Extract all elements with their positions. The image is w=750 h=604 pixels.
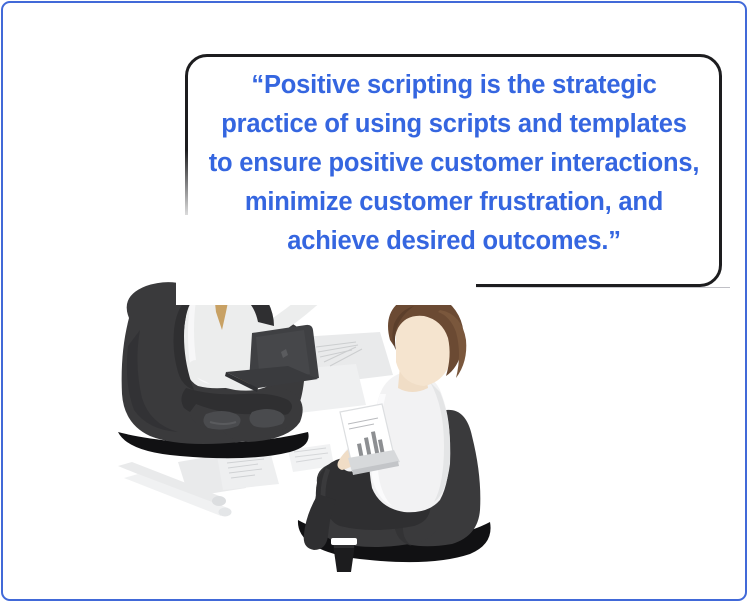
bubble-baseline-accent <box>430 287 730 288</box>
quote-line-2: practice of using scripts and templates <box>198 105 710 144</box>
quote-text: “Positive scripting is the strategic pra… <box>198 66 710 261</box>
coffee-cup-icon <box>331 538 357 572</box>
quote-line-4: minimize customer frustration, and <box>198 183 710 222</box>
quote-card: “Positive scripting is the strategic pra… <box>0 0 750 604</box>
quote-line-5: achieve desired outcomes.” <box>198 222 710 261</box>
quote-line-1: “Positive scripting is the strategic <box>198 66 710 105</box>
quote-line-3: to ensure positive customer interactions… <box>198 144 710 183</box>
